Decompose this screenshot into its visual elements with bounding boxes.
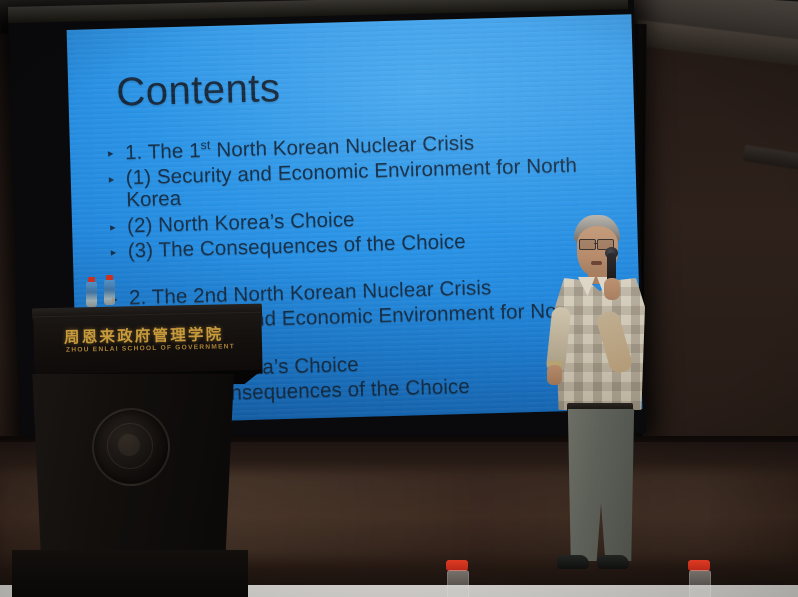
podium-bottle — [104, 275, 115, 305]
bullet-superscript: st — [200, 138, 210, 152]
podium-bottle — [86, 277, 97, 307]
eyeglasses-left-lens-icon — [579, 239, 596, 250]
lecture-hall-scene: Contents ▸ 1. The 1st North Korean Nucle… — [0, 0, 798, 597]
university-seal-icon — [92, 408, 170, 486]
bullet-marker-icon: ▸ — [108, 166, 126, 186]
speaker-shirt — [555, 278, 645, 410]
bullet-text-before: 1. The 1 — [125, 139, 201, 164]
bullet-marker-icon: ▸ — [110, 214, 128, 234]
bottle-body — [689, 570, 711, 597]
podium-base — [12, 550, 248, 597]
speaker-shoe-right — [597, 555, 629, 569]
podium: 周恩来政府管理学院 ZHOU ENLAI SCHOOL OF GOVERNMEN… — [12, 300, 262, 597]
bullet-marker-icon: ▸ — [108, 140, 126, 160]
bullet-marker-icon: ▸ — [110, 239, 128, 259]
slide-bullets-section-1: ▸ 1. The 1st North Korean Nuclear Crisis… — [108, 126, 631, 264]
bottle-body — [104, 280, 115, 305]
speaker-mouth — [591, 261, 602, 265]
eyeglasses-bridge-icon — [594, 243, 597, 244]
bottle-body — [447, 570, 469, 597]
speaker-right-hand — [604, 278, 620, 300]
speaker-shoe-left — [557, 555, 589, 569]
slide-title: Contents — [116, 66, 281, 116]
speaker-left-hand — [547, 365, 562, 385]
bottle-body — [86, 282, 97, 307]
